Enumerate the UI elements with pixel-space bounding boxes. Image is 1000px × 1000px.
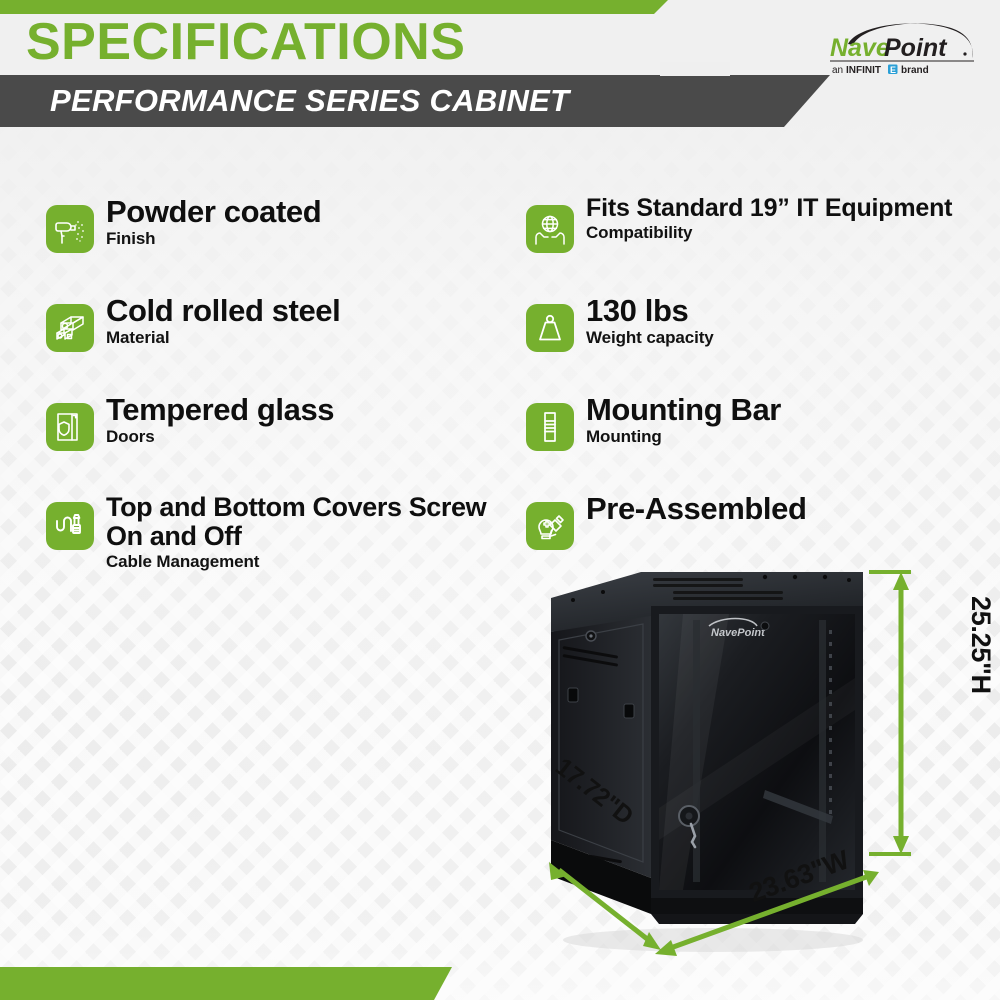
banner-notch bbox=[660, 62, 730, 76]
cable-management-icon bbox=[46, 502, 94, 550]
svg-text:Point: Point bbox=[884, 34, 948, 62]
mounting-bar-icon bbox=[526, 403, 574, 451]
feature-compatibility: Fits Standard 19” IT Equipment Compatibi… bbox=[526, 196, 986, 295]
svg-text:E: E bbox=[890, 65, 896, 75]
spray-gun-icon bbox=[46, 205, 94, 253]
feature-powder-coated: Powder coated Finish bbox=[46, 196, 526, 295]
tempered-glass-icon bbox=[46, 403, 94, 451]
page-title: SPECIFICATIONS bbox=[26, 16, 465, 68]
feature-heading: Fits Standard 19” IT Equipment bbox=[586, 196, 952, 222]
feature-doors: Tempered glass Doors bbox=[46, 394, 526, 493]
page-subtitle: PERFORMANCE SERIES CABINET bbox=[50, 82, 569, 119]
bottom-accent-bar bbox=[0, 967, 452, 1000]
feature-heading: Tempered glass bbox=[106, 394, 334, 426]
feature-heading: Mounting Bar bbox=[586, 394, 781, 426]
feature-mounting: Mounting Bar Mounting bbox=[526, 394, 986, 493]
navepoint-logo: Nave Point an INFINIT E brand bbox=[826, 18, 978, 76]
dimension-height-label: 25.25"H bbox=[965, 596, 996, 694]
feature-weight-capacity: 130 lbs Weight capacity bbox=[526, 295, 986, 394]
feature-cable-management: Top and Bottom Covers Screw On and Off C… bbox=[46, 493, 526, 592]
feature-heading: Top and Bottom Covers Screw On and Off bbox=[106, 493, 516, 551]
feature-subtitle: Compatibility bbox=[586, 224, 952, 243]
svg-text:NavePoint: NavePoint bbox=[711, 627, 766, 639]
feature-material: Cold rolled steel Material bbox=[46, 295, 526, 394]
pre-assembled-icon bbox=[526, 502, 574, 550]
top-accent-bar bbox=[0, 0, 668, 14]
globe-in-hands-icon bbox=[526, 205, 574, 253]
svg-text:an: an bbox=[832, 65, 843, 76]
feature-heading: Cold rolled steel bbox=[106, 295, 340, 327]
feature-subtitle: Weight capacity bbox=[586, 329, 714, 348]
feature-grid: Powder coated Finish Fits Standard 19” I… bbox=[46, 196, 986, 592]
feature-subtitle: Cable Management bbox=[106, 553, 516, 572]
feature-subtitle: Finish bbox=[106, 230, 321, 249]
spec-sheet-page: SPECIFICATIONS PERFORMANCE SERIES CABINE… bbox=[0, 0, 1000, 1000]
feature-heading: Powder coated bbox=[106, 196, 321, 228]
feature-heading: 130 lbs bbox=[586, 295, 714, 327]
feature-subtitle: Doors bbox=[106, 428, 334, 447]
feature-subtitle: Mounting bbox=[586, 428, 781, 447]
feature-heading: Pre-Assembled bbox=[586, 493, 807, 525]
feature-subtitle: Material bbox=[106, 329, 340, 348]
svg-text:INFINIT: INFINIT bbox=[846, 65, 881, 76]
steel-bars-icon bbox=[46, 304, 94, 352]
svg-text:brand: brand bbox=[901, 65, 929, 76]
weight-icon bbox=[526, 304, 574, 352]
svg-text:Nave: Nave bbox=[830, 34, 890, 62]
